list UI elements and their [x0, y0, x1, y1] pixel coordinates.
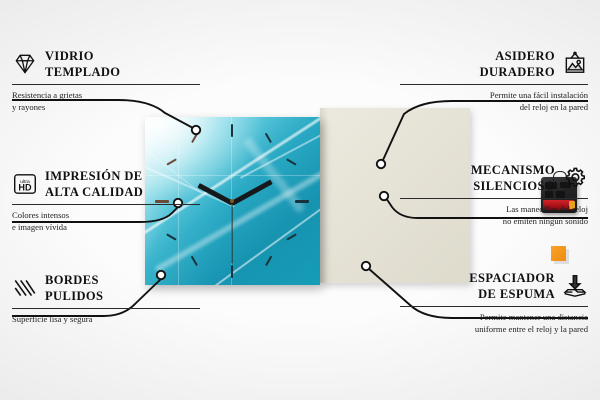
desc-line-2: e imagen vívida [12, 222, 200, 234]
desc-line-1: Permite una fácil instalación [400, 90, 588, 102]
hour-tick [265, 133, 272, 143]
callout-header: MECANISMO SILENCIOSO [400, 162, 588, 194]
callout-title: BORDES PULIDOS [45, 272, 103, 304]
picture-frame-icon [562, 51, 588, 77]
hour-tick [166, 233, 176, 240]
title-line-2: PULIDOS [45, 288, 103, 304]
divider [12, 204, 200, 205]
hour-tick [286, 233, 296, 240]
title-line-1: VIDRIO [45, 48, 120, 64]
callout-silent-mechanism: MECANISMO SILENCIOSO Las manecillas del … [400, 162, 588, 228]
callout-title: IMPRESIÓN DE ALTA CALIDAD [45, 168, 143, 200]
callout-header: BORDES PULIDOS [12, 272, 200, 304]
title-line-2: SILENCIOSO [471, 178, 555, 194]
hour-tick [265, 256, 272, 266]
diagonal-lines-icon [12, 275, 38, 301]
hands-hub [230, 199, 234, 203]
second-hand [231, 202, 232, 264]
callout-header: ASIDERO DURADERO [400, 48, 588, 80]
callout-description: Resistencia a grietas y rayones [12, 90, 200, 114]
title-line-2: DURADERO [480, 64, 555, 80]
desc-line-1: Resistencia a grietas [12, 90, 200, 102]
desc-line-2: no emiten ningún sonido [400, 216, 588, 228]
gear-icon [562, 165, 588, 191]
desc-line-2: del reloj en la pared [400, 102, 588, 114]
desc-line-2: y rayones [12, 102, 200, 114]
callout-description: Superficie lisa y segura [12, 314, 200, 326]
hour-tick [231, 124, 233, 137]
desc-line-1: Permite mantener una distancia [400, 312, 588, 324]
infographic-canvas: VIDRIO TEMPLADO Resistencia a grietas y … [0, 0, 600, 400]
divider [400, 306, 588, 307]
hour-tick [191, 256, 198, 266]
callout-title: VIDRIO TEMPLADO [45, 48, 120, 80]
callout-header: ultra HD IMPRESIÓN DE ALTA CALIDAD [12, 168, 200, 200]
divider [12, 84, 200, 85]
callout-header: VIDRIO TEMPLADO [12, 48, 200, 80]
divider [400, 84, 588, 85]
callout-polished-edges: BORDES PULIDOS Superficie lisa y segura [12, 272, 200, 326]
callout-durable-hanger: ASIDERO DURADERO Permite una fácil insta… [400, 48, 588, 114]
callout-hd-print: ultra HD IMPRESIÓN DE ALTA CALIDAD Color… [12, 168, 200, 234]
callout-foam-spacer: ESPACIADOR DE ESPUMA Permite mantener un… [400, 270, 588, 336]
desc-line-2: uniforme entre el reloj y la pared [400, 324, 588, 336]
title-line-2: TEMPLADO [45, 64, 120, 80]
foam-spacer-part [551, 246, 566, 261]
desc-line-1: Colores intensos [12, 210, 200, 222]
title-line-1: ESPACIADOR [469, 270, 555, 286]
title-line-2: DE ESPUMA [469, 286, 555, 302]
hour-tick [231, 265, 233, 278]
callout-title: MECANISMO SILENCIOSO [471, 162, 555, 194]
svg-text:HD: HD [18, 183, 32, 193]
title-line-1: MECANISMO [471, 162, 555, 178]
callout-tempered-glass: VIDRIO TEMPLADO Resistencia a grietas y … [12, 48, 200, 114]
ultra-hd-badge-icon: ultra HD [12, 171, 38, 197]
hour-tick [295, 200, 309, 203]
callout-description: Permite mantener una distancia uniforme … [400, 312, 588, 336]
divider [12, 308, 200, 309]
title-line-1: ASIDERO [480, 48, 555, 64]
callout-description: Permite una fácil instalación del reloj … [400, 90, 588, 114]
down-arrow-pad-icon [562, 273, 588, 299]
diamond-icon [12, 51, 38, 77]
hour-tick [286, 158, 296, 165]
title-line-1: BORDES [45, 272, 103, 288]
desc-line-1: Superficie lisa y segura [12, 314, 200, 326]
callout-title: ASIDERO DURADERO [480, 48, 555, 80]
desc-line-1: Las manecillas del reloj [400, 204, 588, 216]
callout-description: Las manecillas del reloj no emiten ningú… [400, 204, 588, 228]
title-line-2: ALTA CALIDAD [45, 184, 143, 200]
callout-description: Colores intensos e imagen vívida [12, 210, 200, 234]
callout-title: ESPACIADOR DE ESPUMA [469, 270, 555, 302]
divider [400, 198, 588, 199]
callout-header: ESPACIADOR DE ESPUMA [400, 270, 588, 302]
title-line-1: IMPRESIÓN DE [45, 168, 143, 184]
